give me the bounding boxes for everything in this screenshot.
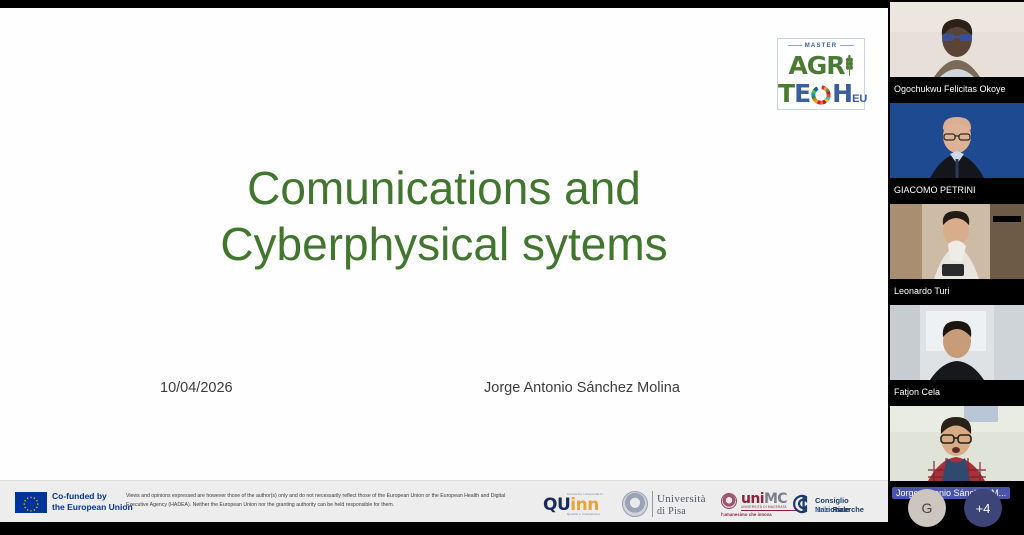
slide-date: 10/04/2026: [160, 380, 233, 396]
eu-flag-icon: [15, 492, 47, 513]
quinn-logo: Consorzio Universitario QUinn Qualità e …: [543, 487, 607, 521]
logo-h-text: H: [832, 79, 852, 108]
pisa-line-1: Università: [657, 493, 706, 505]
unimc-subtitle: UNIVERSITÀ DI MACERATA: [741, 505, 787, 509]
participant-name-label: Ogochukwu Felicitas Okoye: [890, 83, 1010, 95]
unimc-tagline: l'umanesimo che innova: [721, 512, 772, 517]
partner-logos: Consorzio Universitario QUinn Qualità e …: [543, 487, 883, 521]
participant-video: [890, 406, 1024, 481]
logo-agri-row: AGR: [778, 51, 864, 80]
eu-cofunded-label: Co-funded by the European Union: [52, 491, 133, 514]
agritech-eu-logo: MASTER AGR TE: [777, 38, 865, 110]
eu-cofunded-line-1: Co-funded by: [52, 491, 133, 502]
participant-video: [890, 305, 1024, 380]
pisa-seal-icon: [622, 491, 648, 517]
cnr-delle-text: delle: [815, 505, 833, 514]
slide-title: Comunications and Cyberphysical sytems: [0, 160, 888, 272]
participant-video: [890, 103, 1024, 178]
logo-t-text: T: [778, 79, 794, 108]
participant-tile[interactable]: Ogochukwu Felicitas Okoye: [890, 0, 1024, 101]
cnr-logo: Consiglio Nazionale delle Ricerche: [788, 487, 884, 521]
overflow-participants[interactable]: G +4: [890, 483, 1024, 535]
participant-rail[interactable]: Ogochukwu Felicitas Okoye GIACOMO PETRIN…: [890, 0, 1024, 535]
participant-name-label: Leonardo Turi: [890, 285, 954, 297]
wheat-icon: [845, 53, 854, 79]
universita-di-pisa-logo: Università di Pisa: [622, 487, 718, 521]
participant-overflow-count[interactable]: +4: [964, 489, 1002, 527]
participant-video: [890, 204, 1024, 279]
sdg-wheel-icon: [810, 84, 832, 106]
cnr-spiral-icon: [788, 493, 810, 515]
participant-tile[interactable]: Fatjon Cela: [890, 303, 1024, 404]
presentation-slide[interactable]: MASTER AGR TE: [0, 8, 888, 522]
slide-title-line-2: Cyberphysical sytems: [0, 216, 888, 272]
participant-name-label: GIACOMO PETRINI: [890, 184, 980, 196]
slide-title-line-1: Comunications and: [0, 160, 888, 216]
participant-tile[interactable]: Leonardo Turi: [890, 202, 1024, 303]
shared-screen-stage[interactable]: MASTER AGR TE: [0, 0, 890, 535]
eu-cofunded-line-2: the European Union: [52, 502, 133, 513]
pisa-line-2: di Pisa: [657, 506, 686, 517]
unimc-seal-icon: [721, 493, 737, 509]
logo-e-text: E: [794, 79, 810, 108]
slide-author: Jorge Antonio Sánchez Molina: [484, 380, 680, 396]
pisa-divider: [652, 491, 653, 517]
participant-video: [890, 2, 1024, 77]
cnr-line-2: delle Ricerche: [815, 505, 864, 514]
meeting-screen-share-window: MASTER AGR TE: [0, 0, 1024, 535]
logo-agr-text: AGR: [788, 51, 844, 80]
logo-tech-row: TE: [778, 79, 864, 108]
logo-eu-suffix: EU: [852, 93, 867, 105]
logo-master-label: MASTER: [778, 43, 864, 49]
eu-stars: [15, 492, 47, 513]
slide-meta-row: 10/04/2026 Jorge Antonio Sánchez Molina: [0, 380, 888, 402]
quinn-bottom-tagline: Qualità e Innovazione: [567, 512, 600, 516]
participant-name-label: Fatjon Cela: [890, 386, 944, 398]
eu-disclaimer-text: Views and opinions expressed are however…: [126, 492, 526, 510]
slide-footer: Co-funded by the European Union Views an…: [0, 480, 888, 522]
participant-avatar-initial[interactable]: G: [908, 489, 946, 527]
cnr-ricerche-text: Ricerche: [833, 505, 864, 514]
participant-tile[interactable]: GIACOMO PETRINI: [890, 101, 1024, 202]
